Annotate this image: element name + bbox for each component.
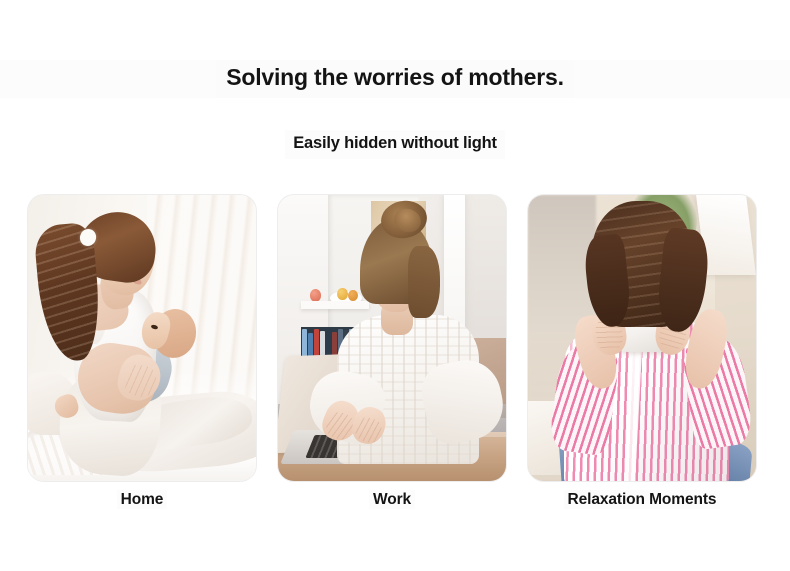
caption-row: Home Work Relaxation Moments (28, 489, 756, 513)
caption-home-text: Home (117, 490, 168, 509)
page-subtitle: Easily hidden without light (0, 130, 790, 159)
scenario-panel-relaxation[interactable] (528, 195, 756, 481)
fruit-orange (337, 288, 347, 300)
caption-relaxation: Relaxation Moments (528, 489, 756, 513)
scenario-panel-home[interactable] (28, 195, 256, 481)
scenario-gallery (28, 195, 756, 481)
photo-woman-working-on-laptop (278, 195, 506, 481)
photo-mother-breastfeeding-baby (28, 195, 256, 481)
page-title-text: Solving the worries of mothers. (216, 60, 574, 98)
caption-work: Work (278, 489, 506, 513)
caption-work-text: Work (369, 490, 415, 509)
page-title: Solving the worries of mothers. (0, 60, 790, 98)
caption-home: Home (28, 489, 256, 513)
photo-woman-relaxing-with-mug (528, 195, 756, 481)
page-subtitle-text: Easily hidden without light (285, 130, 505, 159)
woman-hair-side (408, 246, 440, 318)
scenario-panel-work[interactable] (278, 195, 506, 481)
shelf-upper (301, 301, 369, 310)
caption-relaxation-text: Relaxation Moments (564, 490, 721, 509)
fruit-peach (348, 290, 358, 301)
